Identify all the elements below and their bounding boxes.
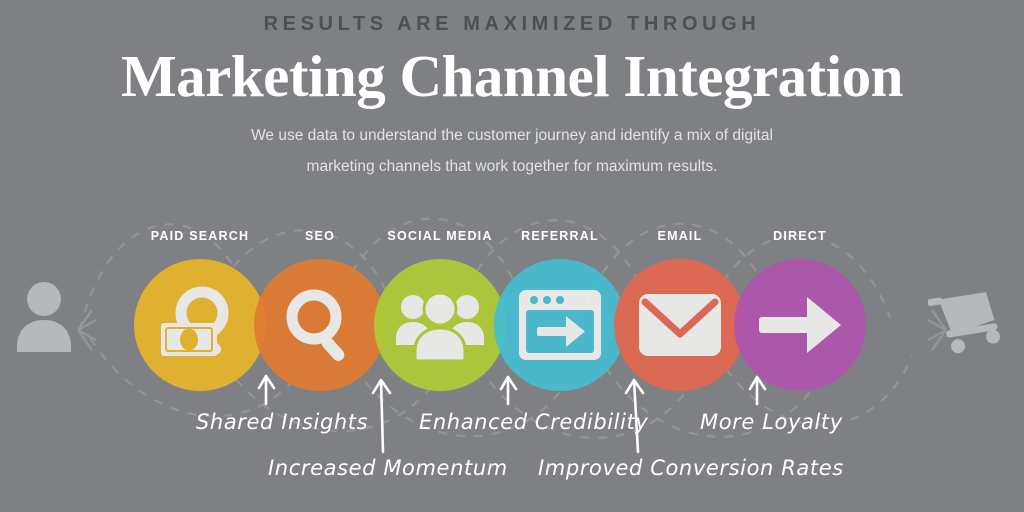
channel-bubble-referral[interactable] (494, 259, 626, 391)
channel-seo[interactable]: SEO (254, 259, 386, 391)
channel-bubble-social-media[interactable] (374, 259, 506, 391)
callout-more-loyalty: More Loyalty (700, 410, 843, 434)
envelope-icon (637, 292, 723, 358)
channel-paid-search[interactable]: PAID SEARCH (134, 259, 266, 391)
channel-bubble-direct[interactable] (734, 259, 866, 391)
channel-direct[interactable]: DIRECT (734, 259, 866, 391)
callout-increased-momentum: Increased Momentum (268, 456, 508, 480)
channel-social-media[interactable]: SOCIAL MEDIA (374, 259, 506, 391)
money-magnifier-icon (157, 285, 243, 365)
magnifier-icon (283, 287, 357, 363)
arrow-right-icon (757, 293, 843, 357)
channel-bubble-seo[interactable] (254, 259, 386, 391)
channel-email[interactable]: EMAIL (614, 259, 746, 391)
channel-bubble-email[interactable] (614, 259, 746, 391)
channel-referral[interactable]: REFERRAL (494, 259, 626, 391)
callout-enhanced-credibility: Enhanced Credibility (419, 410, 648, 434)
callout-shared-insights: Shared Insights (196, 410, 368, 434)
channel-label-direct: DIRECT (700, 229, 900, 243)
browser-arrow-icon (517, 288, 603, 362)
channel-row: PAID SEARCH SEO (0, 0, 1024, 512)
callout-improved-conversion-rates: Improved Conversion Rates (538, 456, 844, 480)
infographic-canvas: RESULTS ARE MAXIMIZED THROUGH Marketing … (0, 0, 1024, 512)
people-group-icon (396, 287, 484, 363)
channel-bubble-paid-search[interactable] (134, 259, 266, 391)
